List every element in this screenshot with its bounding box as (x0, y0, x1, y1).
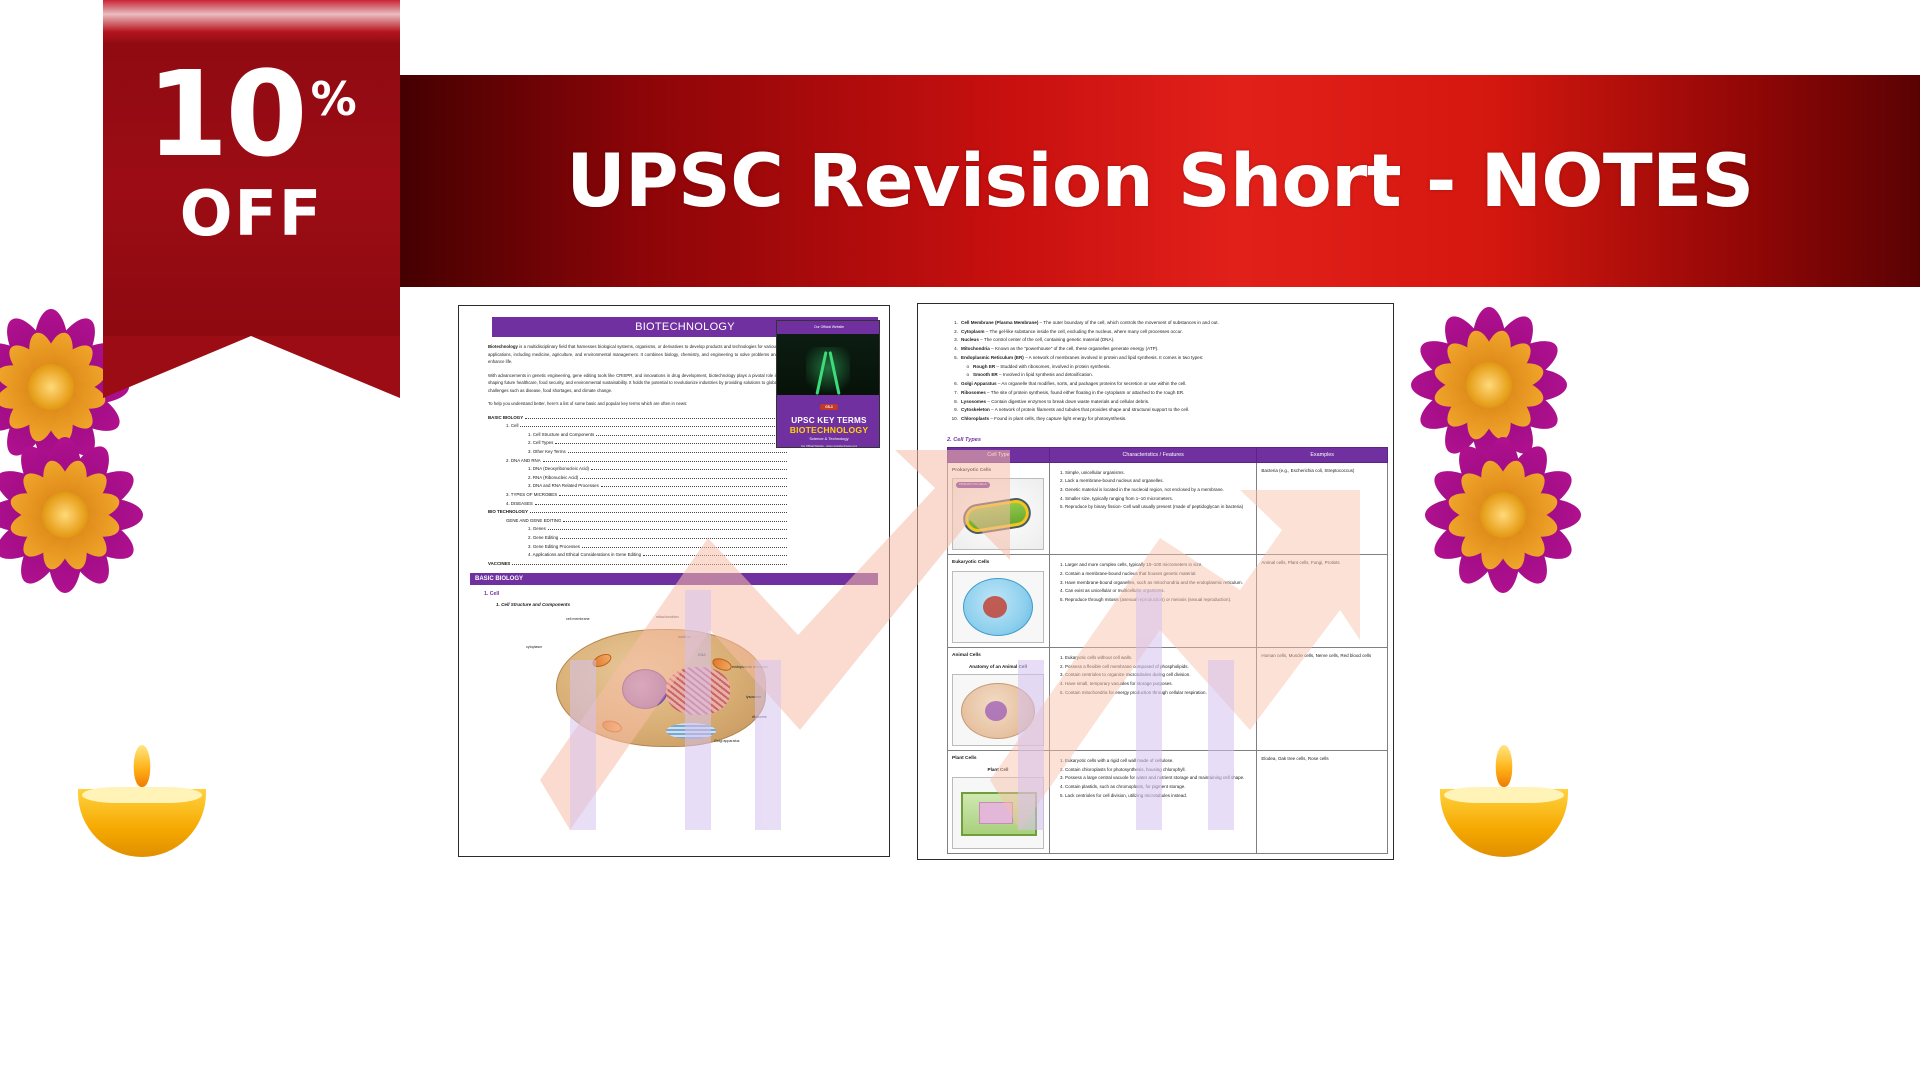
book-cover-thumbnail: Our Official Website GS-3 UPSC KEY TERMS… (776, 320, 880, 448)
col-header-cell-type: Cell Type (948, 447, 1050, 462)
toc-leader-dots (512, 561, 787, 565)
organelle-list: 1.Cell Membrane (Plasma Membrane) – The … (947, 319, 1387, 423)
examples-cell: Animal cells, Plant cells, Fungi, Protis… (1257, 555, 1388, 648)
page-title: UPSC Revision Short - NOTES (566, 139, 1753, 224)
characteristics-cell: Simple, unicellular organisms.Lack a mem… (1049, 462, 1256, 555)
cell-diagram-thumbnail (952, 674, 1044, 746)
page-1-content: BIOTECHNOLOGY Our Official Website GS-3 … (459, 306, 889, 770)
toc-entry[interactable]: 2. DNA AND RNA (506, 458, 788, 463)
organelle-list-item: 6.Golgi Apparatus – An organelle that mo… (947, 380, 1387, 387)
table-row: Plant CellsPlant CellEukaryotic cells wi… (948, 750, 1388, 853)
feature-item: Reproduce by binary fission- Cell wall u… (1065, 503, 1252, 510)
toc-entry[interactable]: BIO TECHNOLOGY (488, 509, 788, 514)
diya-lip (82, 787, 202, 803)
feature-item: Can exist as unicellular or multicellula… (1065, 587, 1252, 594)
organelle-term: Smooth ER (973, 372, 998, 377)
toc-entry-label: BASIC BIOLOGY (488, 415, 523, 420)
toc-entry-label: VACCINES (488, 561, 510, 566)
toc-entry-label: 3. TYPES OF MICROBES (506, 492, 557, 497)
feature-item: Contain a membrane-bound nucleus that ho… (1065, 570, 1252, 577)
toc-entry[interactable]: 1. Genes (528, 526, 788, 531)
characteristics-cell: Eukaryotic cells with a rigid cell wall … (1049, 750, 1256, 853)
list-marker: 5. (947, 354, 958, 361)
organelle-definition: – Known as the "powerhouse" of the cell,… (990, 346, 1159, 351)
feature-list: Simple, unicellular organisms.Lack a mem… (1065, 469, 1252, 511)
organelle-list-item: 9.Cytoskeleton – A network of protein fi… (947, 406, 1387, 413)
organelle-list-item: 4.Mitochondria – Known as the "powerhous… (947, 345, 1387, 352)
organelle-list-item: 2.Cytoplasm – The gel-like substance ins… (947, 328, 1387, 335)
diya-lamp-icon (78, 745, 206, 860)
toc-entry-label: 3. Other Key Terms (528, 449, 566, 454)
organelle-list-item: oRough ER – Studded with ribosomes, invo… (947, 363, 1387, 370)
nucleus-shape (983, 596, 1007, 618)
doc1-para1-bold: Biotechnology (488, 344, 518, 349)
cell-type-name: Eukaryotic Cells (952, 559, 1045, 567)
cell-type-name: Animal Cells (952, 652, 1045, 660)
feature-item: Contain plastids, such as chromoplasts, … (1065, 783, 1252, 790)
table-of-contents[interactable]: BASIC BIOLOGY1. Cell1. Cell Structure an… (488, 415, 788, 566)
doc1-section-bar: BASIC BIOLOGY (470, 573, 878, 585)
off-label: OFF (103, 177, 400, 250)
mandala-decoration (1418, 430, 1588, 600)
mandala-decoration (0, 430, 150, 600)
page-2-content: 1.Cell Membrane (Plasma Membrane) – The … (918, 304, 1393, 860)
table-row: Prokaryotic CellsPROKARYOTIC CELLSSimple… (948, 462, 1388, 555)
cell-diagram-thumbnail: PROKARYOTIC CELLS (952, 478, 1044, 550)
toc-entry-label: 1. Genes (528, 526, 546, 531)
dna-illustration-icon (806, 347, 850, 399)
list-marker: 4. (947, 345, 958, 352)
mandala-core (1466, 362, 1512, 408)
cell-diagram-thumbnail (952, 571, 1044, 643)
organelle-definition: – The site of protein synthesis, found e… (986, 390, 1185, 395)
toc-entry[interactable]: VACCINES (488, 561, 788, 566)
mandala-core (1480, 492, 1526, 538)
toc-leader-dots (591, 466, 787, 470)
examples-cell: Bacteria (e.g., Escherichia coli, Strept… (1257, 462, 1388, 555)
cover-badge: GS-3 (820, 404, 837, 410)
toc-leader-dots (555, 440, 787, 444)
toc-entry[interactable]: 1. Cell (506, 423, 788, 428)
toc-leader-dots (643, 552, 787, 556)
toc-entry-label: 2. Gene Editing (528, 535, 558, 540)
cell-type-name: Prokaryotic Cells (952, 467, 1045, 475)
discount-number: 10 (146, 60, 304, 169)
list-marker: 1. (947, 319, 958, 326)
toc-leader-dots (559, 492, 787, 496)
organelle-term: Endoplasmic Reticulum (ER) (961, 355, 1024, 360)
list-marker: o (960, 363, 969, 370)
organelle-term: Cell Membrane (Plasma Membrane) (961, 320, 1038, 325)
feature-list: Larger and more complex cells, typically… (1065, 561, 1252, 603)
toc-entry[interactable]: 1. Cell Structure and Components (528, 432, 788, 437)
list-marker: 8. (947, 398, 958, 405)
feature-item: Have small, temporary vacuoles for stora… (1065, 680, 1252, 687)
examples-cell: Human cells, Muscle cells, Nerve cells, … (1257, 647, 1388, 750)
organelle-definition: – The gel-like substance inside the cell… (985, 329, 1183, 334)
diya-lamp-icon (1440, 745, 1568, 860)
organelle-list-item: 3.Nucleus – The control center of the ce… (947, 336, 1387, 343)
doc2-section-title: 2. Cell Types (947, 437, 1382, 443)
diya-lip (1444, 787, 1564, 803)
organelle-term: Golgi Apparatus (961, 381, 997, 386)
list-marker: 7. (947, 389, 958, 396)
organelle-term: Lysosomes (961, 399, 986, 404)
organelle-term: Chloroplasts (961, 416, 989, 421)
organelle-definition: – Involved in lipid synthesis and detoxi… (998, 372, 1093, 377)
toc-entry-label: 1. DNA (Deoxyribonucleic Acid) (528, 466, 589, 471)
cell-type-name: Plant Cells (952, 755, 1045, 763)
list-marker: 9. (947, 406, 958, 413)
table-header-row: Cell Type Characteristics / Features Exa… (948, 447, 1388, 462)
cover-top-band: Our Official Website (777, 321, 880, 334)
cover-line-2: BIOTECHNOLOGY (777, 425, 880, 435)
toc-leader-dots (596, 432, 787, 436)
vacuole-shape (979, 802, 1013, 824)
organelle-definition: – Contain digestive enzymes to break dow… (986, 399, 1149, 404)
toc-leader-dots (560, 535, 787, 539)
feature-item: Contain chloroplasts for photosynthesis,… (1065, 766, 1252, 773)
anatomy-label: DNA (698, 653, 706, 657)
doc1-sub-heading: 1. Cell (484, 591, 878, 597)
thumbnail-title: Plant Cell (952, 766, 1044, 773)
characteristics-cell: Eukaryotic cells without cell walls.Poss… (1049, 647, 1256, 750)
organelle-term: Ribosomes (961, 390, 986, 395)
toc-leader-dots (543, 458, 787, 462)
discount-ribbon: 10 % OFF (103, 0, 400, 400)
nucleus-shape (622, 669, 668, 709)
endoplasmic-reticulum-shape (666, 667, 730, 715)
table-row: Animal CellsAnatomy of an Animal CellEuk… (948, 647, 1388, 750)
toc-entry-label: 4. Applications and Ethical Consideratio… (528, 552, 641, 557)
toc-entry[interactable]: 2. Cell Types (528, 440, 788, 445)
toc-entry-label: 4. DISEASES (506, 501, 533, 506)
cover-line-1: UPSC KEY TERMS (777, 416, 880, 425)
ribbon-gloss (103, 0, 400, 44)
organelle-definition: – Found in plant cells, they capture lig… (989, 416, 1126, 421)
toc-entry[interactable]: 3. TYPES OF MICROBES (506, 492, 788, 497)
thumbnail-title: Anatomy of an Animal Cell (952, 663, 1044, 670)
percent-sign: % (311, 72, 357, 126)
doc1-paragraph-1: Biotechnology is a multidisciplinary fie… (488, 343, 778, 366)
cell-types-table: Cell Type Characteristics / Features Exa… (947, 447, 1388, 854)
organelle-definition: – Studded with ribosomes, involved in pr… (995, 364, 1110, 369)
feature-item: Eukaryotic cells without cell walls. (1065, 654, 1252, 661)
toc-entry-label: 1. Cell Structure and Components (528, 432, 594, 437)
organelle-definition: – An organelle that modifies, sorts, and… (997, 381, 1187, 386)
list-marker: 6. (947, 380, 958, 387)
bacterium-shape (963, 498, 1030, 534)
feature-item: Contain centrioles to organize microtubu… (1065, 671, 1252, 678)
nucleus-shape (985, 701, 1007, 721)
doc1-paragraph-2: With advancements in genetic engineering… (488, 372, 778, 395)
doc1-para1-text: is a multidisciplinary field that harnes… (488, 344, 778, 364)
organelle-list-item: 10.Chloroplasts – Found in plant cells, … (947, 415, 1387, 422)
list-marker: 10. (947, 415, 958, 422)
toc-entry-label: 1. Cell (506, 423, 518, 428)
feature-item: Eukaryotic cells with a rigid cell wall … (1065, 757, 1252, 764)
col-header-examples: Examples (1257, 447, 1388, 462)
feature-item: Genetic material is located in the nucle… (1065, 486, 1252, 493)
anatomy-label: mitochondrion (656, 615, 679, 619)
anatomy-label: cell membrane (566, 617, 590, 621)
organelle-term: Rough ER (973, 364, 995, 369)
feature-item: Lack a membrane-bound nucleus and organe… (1065, 477, 1252, 484)
organelle-definition: – A network of membranes involved in pro… (1024, 355, 1204, 360)
toc-leader-dots (548, 526, 787, 530)
toc-entry[interactable]: GENE AND GENE EDITING (506, 518, 788, 523)
golgi-apparatus-shape (666, 723, 716, 739)
doc1-paragraph-3: To help you understand better, here's a … (488, 400, 778, 408)
toc-leader-dots (601, 483, 787, 487)
organelle-term: Nucleus (961, 337, 979, 342)
cover-top-label: Our Official Website (777, 321, 880, 329)
table-body: Prokaryotic CellsPROKARYOTIC CELLSSimple… (948, 462, 1388, 853)
toc-entry-label: 2. RNA (Ribonucleic Acid) (528, 475, 578, 480)
organelle-term: Mitochondria (961, 346, 990, 351)
table-head: Cell Type Characteristics / Features Exa… (948, 447, 1388, 462)
toc-entry[interactable]: 2. Gene Editing (528, 535, 788, 540)
toc-entry[interactable]: 4. Applications and Ethical Consideratio… (528, 552, 788, 557)
toc-leader-dots (535, 501, 787, 505)
examples-cell: Elodea, Oak tree cells, Rose cells (1257, 750, 1388, 853)
anatomy-label: ribosome (752, 715, 767, 719)
anatomy-label: Golgi apparatus (714, 739, 748, 743)
toc-entry[interactable]: 3. Gene Editing Processes (528, 544, 788, 549)
cell-anatomy-illustration: cell membrane mitochondrion cytoplasm nu… (470, 611, 878, 761)
toc-entry[interactable]: BASIC BIOLOGY (488, 415, 788, 420)
mandala-core (28, 364, 74, 410)
toc-leader-dots (525, 415, 787, 419)
toc-entry-label: 2. DNA AND RNA (506, 458, 541, 463)
cover-bottom-band: GS-3 UPSC KEY TERMS BIOTECHNOLOGY Scienc… (777, 395, 880, 447)
table-row: Eukaryotic CellsLarger and more complex … (948, 555, 1388, 648)
cell-type-cell: Eukaryotic Cells (948, 555, 1050, 648)
toc-entry[interactable]: 3. Other Key Terms (528, 449, 788, 454)
organelle-list-item: 1.Cell Membrane (Plasma Membrane) – The … (947, 319, 1387, 326)
toc-leader-dots (568, 449, 787, 453)
flame-icon (1496, 745, 1513, 787)
list-marker: o (960, 371, 969, 378)
feature-item: Possess a flexible cell membrane compose… (1065, 663, 1252, 670)
cell-diagram-thumbnail (952, 777, 1044, 849)
feature-list: Eukaryotic cells without cell walls.Poss… (1065, 654, 1252, 696)
feature-item: Lack centrioles for cell division, utili… (1065, 792, 1252, 799)
organelle-definition: – A network of protein filaments and tub… (990, 407, 1189, 412)
toc-leader-dots (530, 509, 787, 513)
cell-type-cell: Prokaryotic CellsPROKARYOTIC CELLS (948, 462, 1050, 555)
feature-item: Reproduce through mitosis (asexual repro… (1065, 596, 1252, 603)
organelle-list-item: 8.Lysosomes – Contain digestive enzymes … (947, 398, 1387, 405)
document-preview-page-2[interactable]: 1.Cell Membrane (Plasma Membrane) – The … (917, 303, 1394, 860)
toc-entry[interactable]: 1. DNA (Deoxyribonucleic Acid) (528, 466, 788, 471)
cover-line-3: Science & Technology (777, 436, 880, 441)
toc-entry[interactable]: 3. DNA and RNA Related Processes (528, 483, 788, 488)
characteristics-cell: Larger and more complex cells, typically… (1049, 555, 1256, 648)
organelle-term: Cytoplasm (961, 329, 985, 334)
anatomy-label: lysosome (746, 695, 761, 699)
toc-leader-dots (563, 518, 787, 522)
anatomy-label: endoplasmic reticulum (732, 665, 772, 669)
cell-type-cell: Animal CellsAnatomy of an Animal Cell (948, 647, 1050, 750)
toc-entry[interactable]: 2. RNA (Ribonucleic Acid) (528, 475, 788, 480)
feature-item: Contain mitochondria for energy producti… (1065, 689, 1252, 696)
toc-entry[interactable]: 4. DISEASES (506, 501, 788, 506)
toc-entry-label: 2. Cell Types (528, 440, 553, 445)
anatomy-label: nucleus (678, 635, 690, 639)
feature-item: Possess a large central vacuole for wate… (1065, 774, 1252, 781)
list-marker: 3. (947, 336, 958, 343)
toc-leader-dots (580, 475, 787, 479)
feature-item: Simple, unicellular organisms. (1065, 469, 1252, 476)
ribbon-notch (103, 336, 400, 398)
document-preview-page-1[interactable]: BIOTECHNOLOGY Our Official Website GS-3 … (458, 305, 890, 857)
toc-entry-label: BIO TECHNOLOGY (488, 509, 528, 514)
toc-leader-dots (582, 544, 787, 548)
anatomy-label: cytoplasm (526, 645, 542, 649)
thumbnail-tag: PROKARYOTIC CELLS (956, 482, 990, 488)
toc-leader-dots (520, 423, 787, 427)
feature-list: Eukaryotic cells with a rigid cell wall … (1065, 757, 1252, 799)
feature-item: Smaller size, typically ranging from 1–1… (1065, 495, 1252, 502)
cover-website-url: Our Official Website - www.morgisbenhori… (777, 445, 880, 448)
organelle-definition: – The control center of the cell, contai… (979, 337, 1115, 342)
feature-item: Larger and more complex cells, typically… (1065, 561, 1252, 568)
col-header-characteristics: Characteristics / Features (1049, 447, 1256, 462)
ribbon-content: 10 % OFF (103, 60, 400, 250)
toc-entry-label: 3. Gene Editing Processes (528, 544, 580, 549)
toc-entry-label: GENE AND GENE EDITING (506, 518, 561, 523)
feature-item: Have membrane-bound organelles, such as … (1065, 579, 1252, 586)
toc-entry-label: 3. DNA and RNA Related Processes (528, 483, 599, 488)
organelle-list-item: oSmooth ER – Involved in lipid synthesis… (947, 371, 1387, 378)
mandala-core (42, 492, 88, 538)
cell-type-cell: Plant CellsPlant Cell (948, 750, 1050, 853)
doc1-sub-heading-2: 1. Cell Structure and Components (496, 602, 878, 607)
promo-header-bar: UPSC Revision Short - NOTES (400, 75, 1920, 287)
organelle-list-item: 7.Ribosomes – The site of protein synthe… (947, 389, 1387, 396)
flame-icon (134, 745, 151, 787)
discount-row: 10 % (103, 60, 400, 169)
organelle-list-item: 5.Endoplasmic Reticulum (ER) – A network… (947, 354, 1387, 361)
list-marker: 2. (947, 328, 958, 335)
organelle-definition: – The outer boundary of the cell, which … (1038, 320, 1218, 325)
organelle-term: Cytoskeleton (961, 407, 990, 412)
